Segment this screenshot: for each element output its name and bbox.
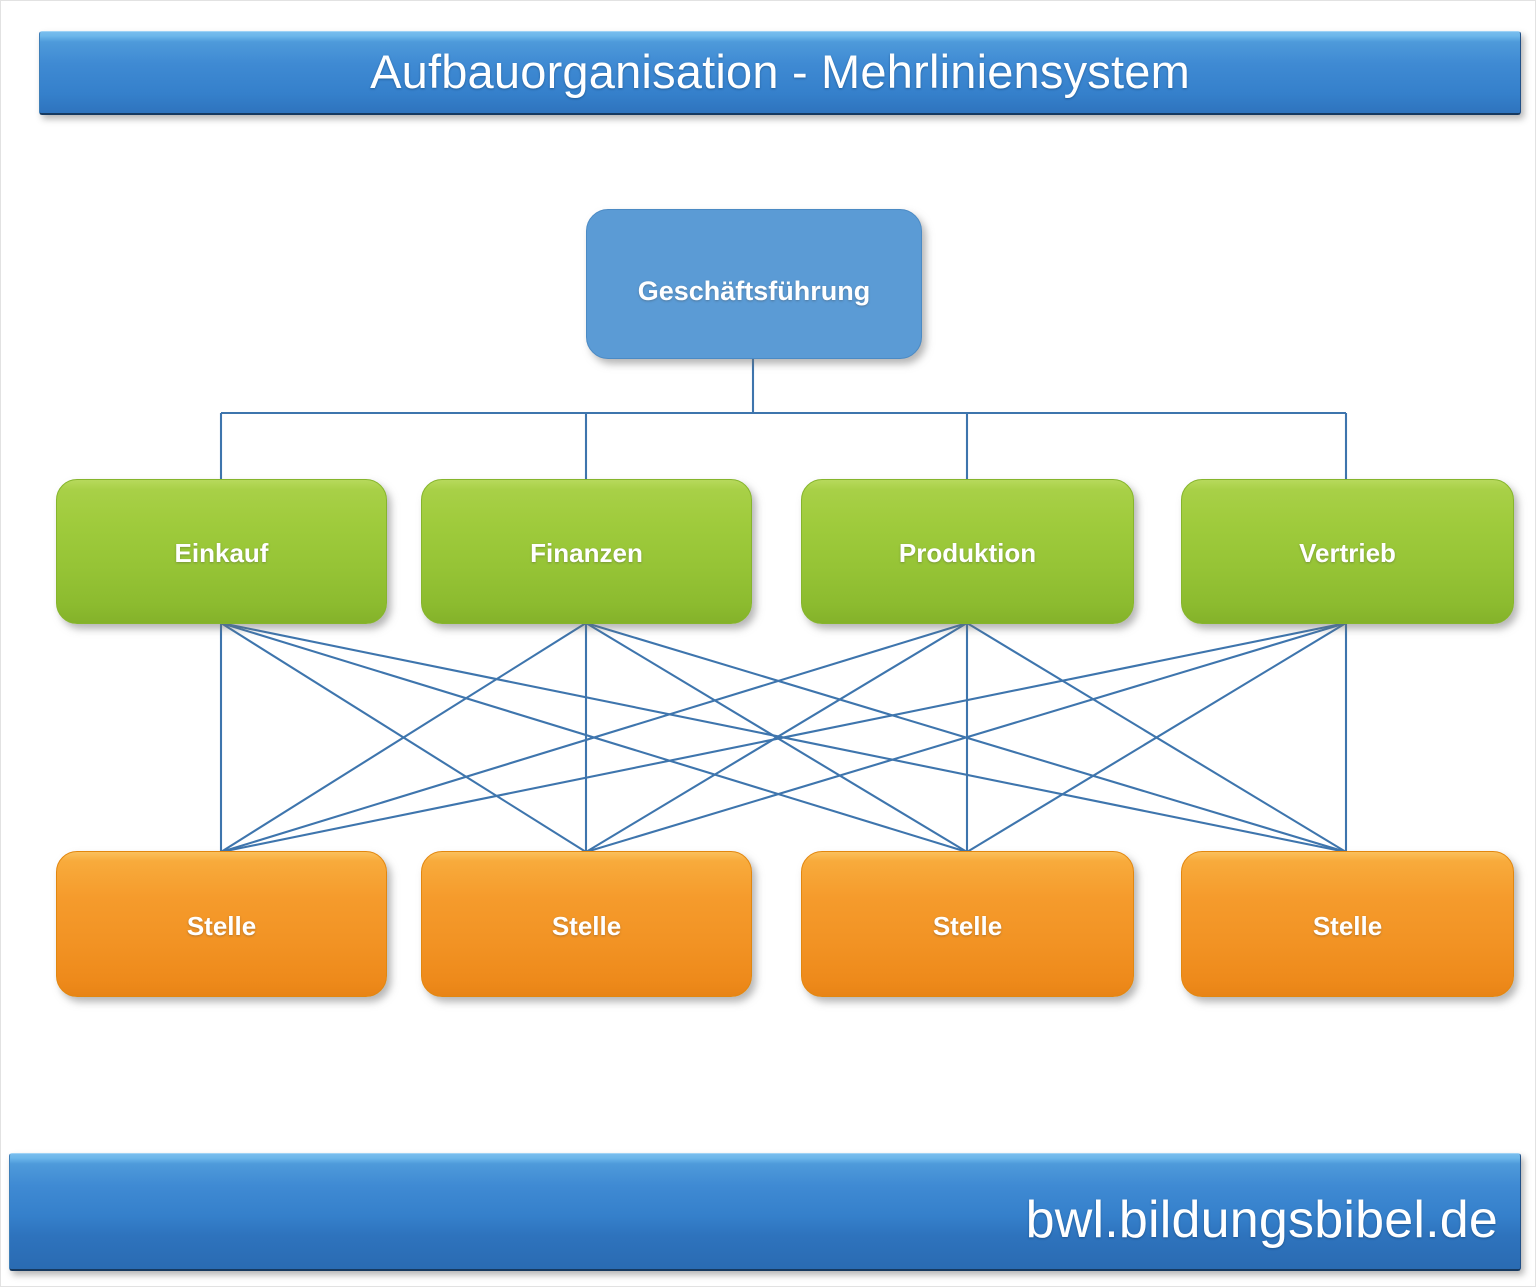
connector-lines [1, 1, 1536, 1287]
node-stelle-1[interactable]: Stelle [56, 851, 387, 997]
node-stelle-3[interactable]: Stelle [801, 851, 1134, 997]
node-stelle-2[interactable]: Stelle [421, 851, 752, 997]
level2-to-level3-edges [221, 623, 1346, 852]
node-label: Einkauf [175, 538, 269, 569]
node-label: Stelle [933, 911, 1002, 942]
level1-to-level2-edges [221, 359, 1346, 479]
node-stelle-4[interactable]: Stelle [1181, 851, 1514, 997]
node-label: Produktion [899, 538, 1036, 569]
footer-banner: bwl.bildungsbibel.de [9, 1153, 1521, 1271]
node-label: Stelle [552, 911, 621, 942]
node-label: Finanzen [530, 538, 643, 569]
node-geschaeftsfuehrung[interactable]: Geschäftsführung [586, 209, 922, 359]
node-label: Stelle [187, 911, 256, 942]
node-label: Geschäftsführung [638, 276, 871, 307]
node-finanzen[interactable]: Finanzen [421, 479, 752, 624]
source-watermark: bwl.bildungsbibel.de [1026, 1194, 1520, 1246]
node-label: Stelle [1313, 911, 1382, 942]
node-label: Vertrieb [1299, 538, 1396, 569]
node-vertrieb[interactable]: Vertrieb [1181, 479, 1514, 624]
node-einkauf[interactable]: Einkauf [56, 479, 387, 624]
node-produktion[interactable]: Produktion [801, 479, 1134, 624]
diagram-canvas: Aufbauorganisation - Mehrliniensystem Ge… [0, 0, 1536, 1287]
